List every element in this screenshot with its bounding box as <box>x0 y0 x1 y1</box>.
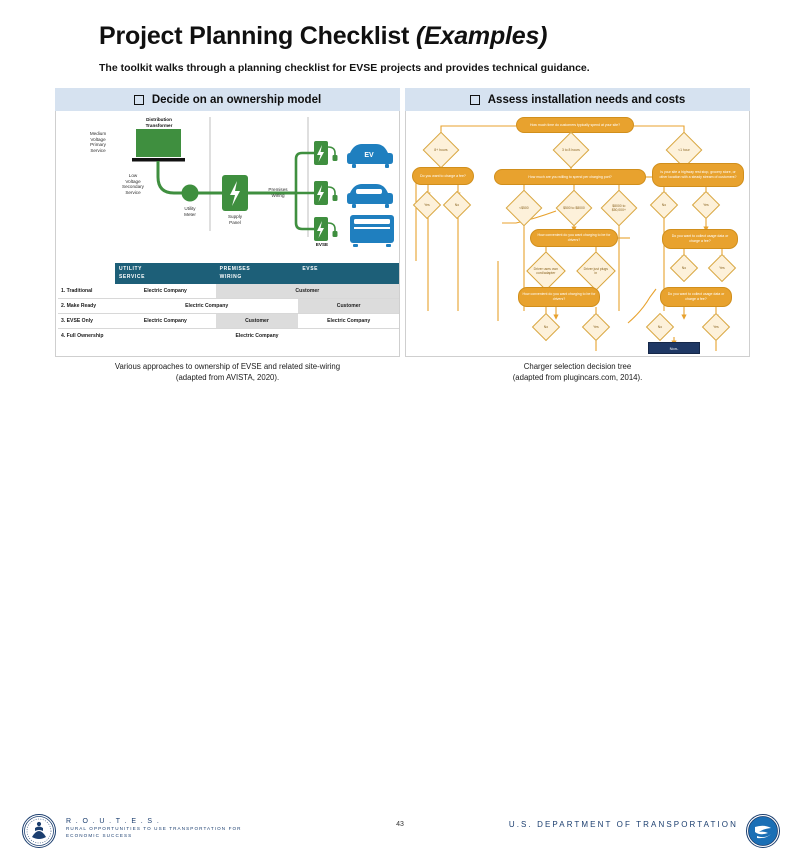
label-premises-wiring: PremisesWiring <box>256 187 300 198</box>
dot-seal-svg <box>747 815 779 847</box>
checkbox-icon <box>470 95 480 105</box>
label-supply-panel: SupplyPanel <box>217 214 253 225</box>
caption-left-line1: Various approaches to ownership of EVSE … <box>115 362 340 371</box>
cell-traditional-utility: Electric Company <box>115 284 216 299</box>
svg-text:EV: EV <box>364 152 374 159</box>
row-label-traditional: 1. Traditional <box>58 284 115 299</box>
panel-installation-needs: Assess installation needs and costs <box>405 88 750 386</box>
tree-node-highway-question[interactable]: Is your site a highway rest stop, grocer… <box>652 163 744 187</box>
routes-seal-svg <box>23 815 55 847</box>
page-title-examples: (Examples) <box>416 22 547 50</box>
cell-full-utility: Electric Company <box>115 329 399 344</box>
label-distribution-transformer: DistributionTransformer <box>128 117 190 128</box>
cell-makeready-utility: Electric Company <box>115 299 298 314</box>
table-header-row: UTILITYSERVICE PREMISESWIRING EVSE <box>58 263 399 284</box>
caption-left-line2: (adapted from AVISTA, 2020). <box>176 373 279 382</box>
tree-node-charge-fee-question[interactable]: Do you want to charge a fee? <box>412 167 474 185</box>
label-low-voltage-secondary-service: LowVoltageSecondaryService <box>112 173 154 196</box>
table-header-blank <box>58 263 115 284</box>
panel-right-header: Assess installation needs and costs <box>405 88 750 111</box>
page-title-main: Project Planning Checklist <box>99 22 416 50</box>
cell-evseonly-utility: Electric Company <box>115 314 216 329</box>
charger-selection-decision-tree: How much time do customers typically spe… <box>406 111 749 356</box>
panel-right-body: How much time do customers typically spe… <box>405 111 750 357</box>
label-evse: EVSE <box>308 242 336 248</box>
routes-expansion: RURAL OPPORTUNITIES TO USE TRANSPORTATIO… <box>66 826 242 840</box>
table-row: 1. Traditional Electric Company Customer <box>58 284 399 299</box>
dot-wordmark: U.S. DEPARTMENT OF TRANSPORTATION <box>509 820 738 829</box>
table-row: 4. Full Ownership Electric Company <box>58 329 399 344</box>
tree-node-usage-question-2[interactable]: Do you want to collect usage data or cha… <box>660 287 732 307</box>
tree-node-spend-question[interactable]: How much are you willing to spend per ch… <box>494 169 646 185</box>
table-header-evse: EVSE <box>298 263 399 284</box>
panel-right-heading-text: Assess installation needs and costs <box>488 94 686 106</box>
cell-evseonly-evse: Electric Company <box>298 314 399 329</box>
routes-seal-icon <box>22 814 56 848</box>
tree-node-convenience-question[interactable]: How convenient do you want charging to b… <box>530 229 618 247</box>
table-header-utility-service: UTILITYSERVICE <box>115 263 216 284</box>
row-label-make-ready: 2. Make Ready <box>58 299 115 314</box>
panel-left-heading-text: Decide on an ownership model <box>152 94 321 106</box>
cell-makeready-customer: Customer <box>298 299 399 314</box>
table-header-premises-wiring: PREMISESWIRING <box>216 263 299 284</box>
panel-left-body: EV DistributionTransformer Medium <box>55 111 400 357</box>
checkbox-icon <box>134 95 144 105</box>
tree-node-terminal-result[interactable]: Non- <box>648 342 700 354</box>
panel-right-caption: Charger selection decision tree (adapted… <box>405 361 750 384</box>
row-label-full-ownership: 4. Full Ownership <box>58 329 115 344</box>
ownership-table-body: 1. Traditional Electric Company Customer… <box>58 284 399 343</box>
page-subtitle: The toolkit walks through a planning che… <box>99 62 590 74</box>
cell-evseonly-premises: Customer <box>216 314 299 329</box>
routes-expansion-line2: ECONOMIC SUCCESS <box>66 833 132 838</box>
page-title: Project Planning Checklist (Examples) <box>99 22 547 51</box>
ownership-table: UTILITYSERVICE PREMISESWIRING EVSE 1. Tr… <box>58 263 399 343</box>
panel-left-header: Decide on an ownership model <box>55 88 400 111</box>
tree-node-usage-question[interactable]: Do you want to collect usage data or cha… <box>662 229 738 249</box>
tree-node-root-question[interactable]: How much time do customers typically spe… <box>516 117 634 133</box>
label-medium-voltage-primary-service: MediumVoltagePrimaryService <box>78 131 118 154</box>
caption-right-line1: Charger selection decision tree <box>524 362 631 371</box>
table-row: 3. EVSE Only Electric Company Customer E… <box>58 314 399 329</box>
label-utility-meter: UtilityMeter <box>172 206 208 217</box>
row-label-evse-only: 3. EVSE Only <box>58 314 115 329</box>
caption-right-line2: (adapted from plugincars.com, 2014). <box>513 373 643 382</box>
table-row: 2. Make Ready Electric Company Customer <box>58 299 399 314</box>
panel-ownership-model: Decide on an ownership model <box>55 88 400 386</box>
ownership-one-line-diagram: EV DistributionTransformer Medium <box>56 111 399 266</box>
tree-node-convenience-question-2[interactable]: How convenient do you want charging to b… <box>518 287 600 307</box>
ownership-table-header: UTILITYSERVICE PREMISESWIRING EVSE <box>58 263 399 284</box>
dot-seal-icon <box>746 814 780 848</box>
cell-traditional-customer: Customer <box>216 284 399 299</box>
panel-left-caption: Various approaches to ownership of EVSE … <box>55 361 400 384</box>
slide-footer: R . O . U . T . E . S . RURAL OPPORTUNIT… <box>0 404 800 450</box>
